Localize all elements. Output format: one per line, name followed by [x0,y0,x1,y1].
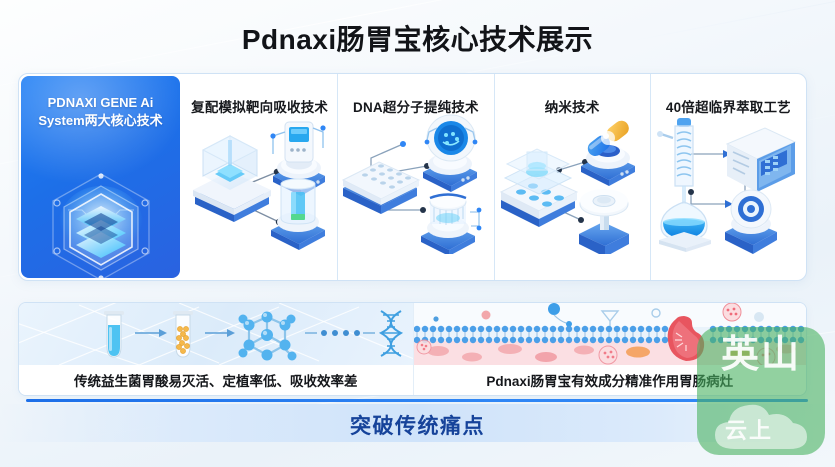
hexagon-layers-icon [38,168,164,278]
watermark-cloud-text: 云上 [697,413,801,445]
tech-panel-compound-targeted-absorption[interactable]: 复配模拟靶向吸收技术 [182,74,337,280]
hero-panel-two-core-technologies[interactable]: PDNAXI GENE Ai System两大核心技术 [21,76,180,278]
well-plate-centrifuge-icon [341,114,491,259]
core-technology-card: PDNAXI GENE Ai System两大核心技术 [18,73,807,281]
comparison-traditional[interactable]: 传统益生菌胃酸易灭活、定植率低、吸收效率差 [19,303,413,395]
lab-equipment-icon [185,114,335,259]
hero-panel-label: PDNAXI GENE Ai System两大核心技术 [21,76,180,129]
tech-panel-supercritical-extraction[interactable]: 40倍超临界萃取工艺 [650,74,806,280]
comparison-card: 传统益生菌胃酸易灭活、定植率低、吸收效率差 [18,302,807,396]
tech-panel-dna-supramolecular-purification[interactable]: DNA超分子提纯技术 [337,74,493,280]
tech-panel-nano-technology[interactable]: 纳米技术 [494,74,650,280]
page-title: Pdnaxi肠胃宝核心技术展示 [0,18,835,58]
tech-panel-title: 复配模拟靶向吸收技术 [191,96,328,116]
capsule-mixer-icon [497,114,647,259]
condenser-flask-icon [653,114,803,259]
banner-rule [26,399,808,402]
test-tube-molecule-dna-flow-icon [19,303,413,365]
tech-panel-title: 40倍超临界萃取工艺 [666,96,791,116]
tech-panel-title: 纳米技术 [545,96,600,116]
tech-panel-title: DNA超分子提纯技术 [353,96,479,116]
comparison-caption: 传统益生菌胃酸易灭活、定植率低、吸收效率差 [19,365,413,395]
watermark-top-text: 英山 [697,335,825,377]
watermark-logo: 英山 云上 [697,327,825,455]
